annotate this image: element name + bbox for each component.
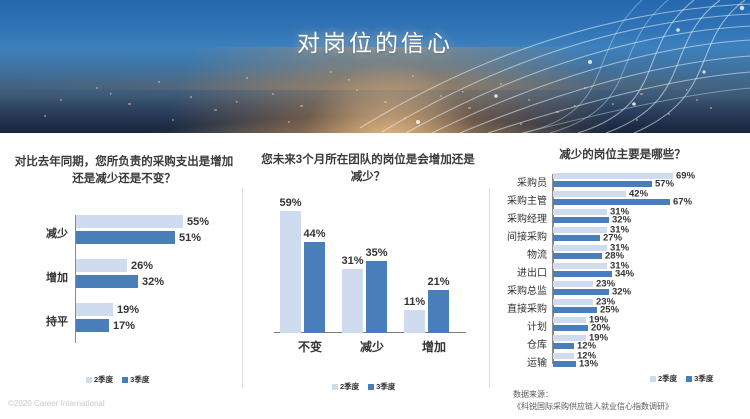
chart-3-category-2: 采购经理: [495, 210, 547, 225]
source-note: 数据来源： 《科锐国际采购供应链人就业信心指数调研》: [513, 389, 673, 413]
legend-swatch-s3-icon: [686, 376, 692, 382]
chart-3-value-s3-10: 13%: [579, 358, 598, 369]
legend-swatch-s2-icon: [650, 376, 656, 382]
chart-2-bar-s2-2: 11%: [404, 310, 425, 333]
copyright-notice: ©2020 Career International: [8, 399, 105, 408]
chart-2-group-0: 59% 44% 不变: [278, 199, 342, 333]
chart-1-value-s2-2: 19%: [117, 304, 139, 316]
chart-1-value-s2-0: 55%: [187, 216, 209, 228]
chart-2-bar-s2-0: 59%: [280, 211, 301, 333]
chart-panel-2: 您未来3个月所在团队的岗位是会增加还是减少？ 59% 44% 不变 31%: [248, 133, 488, 357]
chart-3-category-1: 采购主管: [495, 192, 547, 207]
chart-3-bar-s3-9: 12%: [553, 343, 574, 349]
chart-2-bar-s3-2: 21%: [428, 290, 449, 333]
chart-2-title: 您未来3个月所在团队的岗位是会增加还是减少？: [248, 133, 488, 185]
chart-2-bar-s2-1: 31%: [342, 269, 363, 333]
chart-3-bar-s2-5: 31%: [553, 263, 607, 269]
chart-3-category-8: 计划: [495, 318, 547, 333]
chart-3-value-s3-1: 67%: [673, 196, 692, 207]
chart-3-row-8: 计划 19% 20%: [495, 316, 750, 333]
chart-2-value-s2-2: 11%: [404, 296, 425, 308]
chart-3-bar-s2-3: 31%: [553, 227, 607, 233]
chart-3-row-6: 采购总监 23% 32%: [495, 280, 750, 297]
legend-swatch-s2-icon: [86, 377, 92, 383]
chart-3-legend-item-s3: 3季度: [686, 373, 713, 384]
chart-3-value-s2-1: 42%: [629, 188, 648, 199]
chart-3-bar-s2-6: 23%: [553, 281, 593, 287]
chart-3-bar-s3-10: 13%: [553, 361, 576, 367]
chart-2-plot: 59% 44% 不变 31% 35% 减少: [260, 199, 476, 357]
chart-1-bar-s3-0: 51%: [76, 231, 175, 244]
chart-3-legend: 2季度 3季度: [650, 373, 713, 384]
chart-3-category-10: 运输: [495, 354, 547, 369]
chart-3-row-4: 物流 31% 28%: [495, 244, 750, 261]
chart-2-group-2: 11% 21% 增加: [402, 199, 466, 333]
legend-swatch-s3-icon: [368, 384, 374, 390]
chart-3-bar-s3-5: 34%: [553, 271, 612, 277]
chart-panel-3: 减少的岗位主要是哪些？ 采购员 69% 57% 采购主管 42%: [495, 133, 750, 368]
chart-3-row-7: 直接采购 23% 25%: [495, 298, 750, 315]
chart-1-title: 对比去年同期，您所负责的采购支出是增加还是减少还是不变？: [6, 133, 242, 187]
source-value: 《科锐国际采购供应链人就业信心指数调研》: [513, 401, 673, 413]
chart-1-legend-item-s2: 2季度: [86, 374, 113, 385]
chart-3-row-1: 采购主管 42% 67%: [495, 190, 750, 207]
chart-3-bar-s3-8: 20%: [553, 325, 588, 331]
chart-3-legend-item-s2: 2季度: [650, 373, 677, 384]
chart-3-bar-s2-2: 31%: [553, 209, 607, 215]
chart-1-value-s2-1: 26%: [131, 260, 153, 272]
chart-1-value-s3-0: 51%: [179, 232, 201, 244]
chart-panel-1: 对比去年同期，您所负责的采购支出是增加还是减少还是不变？ 减少 55% 51% …: [6, 133, 242, 349]
chart-3-plot: 采购员 69% 57% 采购主管 42% 67%: [495, 172, 750, 368]
chart-2-category-1: 减少: [340, 338, 404, 355]
legend-swatch-s2-icon: [332, 384, 338, 390]
chart-3-category-6: 采购总监: [495, 282, 547, 297]
chart-3-row-9: 仓库 19% 12%: [495, 334, 750, 351]
chart-3-category-5: 进出口: [495, 264, 547, 279]
chart-2-group-1: 31% 35% 减少: [340, 199, 404, 333]
chart-1-plot: 减少 55% 51% 增加 26% 32%: [6, 209, 242, 349]
chart-3-row-10: 运输 12% 13%: [495, 352, 750, 369]
chart-3-category-4: 物流: [495, 246, 547, 261]
chart-3-row-5: 进出口 31% 34%: [495, 262, 750, 279]
chart-1-value-s3-2: 17%: [113, 320, 135, 332]
chart-2-category-2: 增加: [402, 338, 466, 355]
chart-3-bar-s3-7: 25%: [553, 307, 597, 313]
chart-2-legend-label-s2: 2季度: [340, 381, 359, 392]
chart-1-value-s3-1: 32%: [142, 276, 164, 288]
chart-1-bar-s2-1: 26%: [76, 259, 127, 272]
chart-1-legend: 2季度 3季度: [86, 374, 149, 385]
chart-3-row-0: 采购员 69% 57%: [495, 172, 750, 189]
chart-3-category-7: 直接采购: [495, 300, 547, 315]
chart-3-legend-label-s3: 3季度: [694, 373, 713, 384]
chart-1-bar-s3-1: 32%: [76, 275, 138, 288]
chart-2-legend: 2季度 3季度: [332, 381, 395, 392]
chart-2-category-0: 不变: [278, 338, 342, 355]
chart-1-legend-item-s3: 3季度: [122, 374, 149, 385]
chart-3-value-s3-5: 34%: [615, 268, 634, 279]
chart-3-value-s2-0: 69%: [676, 170, 695, 181]
chart-1-bar-s2-0: 55%: [76, 215, 183, 228]
chart-3-category-3: 间接采购: [495, 228, 547, 243]
chart-3-row-3: 间接采购 31% 27%: [495, 226, 750, 243]
chart-3-category-9: 仓库: [495, 336, 547, 351]
chart-3-bar-s3-6: 32%: [553, 289, 609, 295]
chart-3-bar-s2-1: 42%: [553, 191, 626, 197]
content-area: 对比去年同期，您所负责的采购支出是增加还是减少还是不变？ 减少 55% 51% …: [0, 133, 750, 419]
chart-3-title: 减少的岗位主要是哪些？: [495, 133, 750, 164]
page-title: 对岗位的信心: [0, 24, 750, 58]
chart-3-legend-label-s2: 2季度: [658, 373, 677, 384]
chart-3-row-2: 采购经理 31% 32%: [495, 208, 750, 225]
chart-2-bar-s3-0: 44%: [304, 242, 325, 333]
chart-3-bar-s3-2: 32%: [553, 217, 609, 223]
chart-1-legend-label-s2: 2季度: [94, 374, 113, 385]
chart-1-category-2: 持平: [6, 313, 68, 329]
chart-3-bar-s3-0: 57%: [553, 181, 652, 187]
chart-3-category-0: 采购员: [495, 174, 547, 189]
chart-1-bar-s3-2: 17%: [76, 319, 109, 332]
chart-3-bar-s3-4: 28%: [553, 253, 602, 259]
chart-3-bar-s3-3: 27%: [553, 235, 600, 241]
chart-2-legend-label-s3: 3季度: [376, 381, 395, 392]
chart-2-value-s3-2: 21%: [427, 276, 449, 288]
chart-2-bar-s3-1: 35%: [366, 261, 387, 333]
chart-1-legend-label-s3: 3季度: [130, 374, 149, 385]
chart-2-legend-item-s2: 2季度: [332, 381, 359, 392]
chart-1-category-1: 增加: [6, 269, 68, 285]
chart-2-value-s3-0: 44%: [303, 228, 325, 240]
chart-1-bar-s2-2: 19%: [76, 303, 113, 316]
slide-page: 对岗位的信心 对比去年同期，您所负责的采购支出是增加还是减少还是不变？ 减少 5…: [0, 0, 750, 419]
chart-2-value-s3-1: 35%: [365, 247, 387, 259]
legend-swatch-s3-icon: [122, 377, 128, 383]
chart-2-legend-item-s3: 3季度: [368, 381, 395, 392]
source-label: 数据来源：: [513, 389, 673, 401]
panel-divider-2: [489, 188, 490, 388]
chart-3-value-s3-0: 57%: [655, 178, 674, 189]
chart-3-bar-s2-4: 31%: [553, 245, 607, 251]
chart-3-bar-s2-8: 19%: [553, 317, 586, 323]
chart-3-bar-s3-1: 67%: [553, 199, 670, 205]
chart-3-bar-s2-7: 23%: [553, 299, 593, 305]
panel-divider-1: [242, 188, 243, 388]
header-banner: 对岗位的信心: [0, 0, 750, 133]
chart-2-value-s2-0: 59%: [279, 197, 301, 209]
chart-3-bar-s2-10: 12%: [553, 353, 574, 359]
network-arcs-graphic: [290, 0, 750, 133]
chart-1-category-0: 减少: [6, 225, 68, 241]
chart-2-value-s2-1: 31%: [341, 255, 363, 267]
